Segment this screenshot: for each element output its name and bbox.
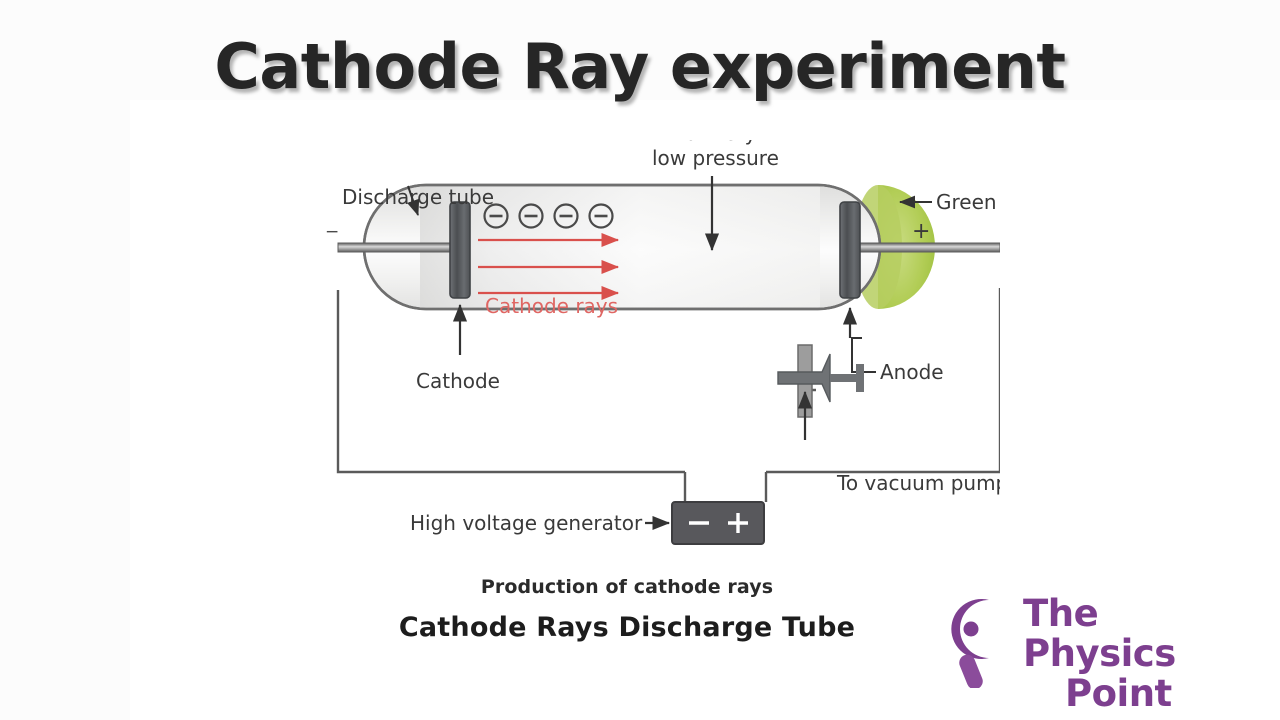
logo-wordmark: The Physics Point (1023, 594, 1245, 714)
logo-mark-icon (945, 596, 1025, 688)
logo-line-1: The Physics (1023, 594, 1245, 674)
anode-plate (840, 202, 860, 298)
air-pressure-label-line2: low pressure (652, 146, 779, 170)
cathode-rays-label: Cathode rays (485, 294, 618, 318)
terminal-negative-label: − (325, 222, 339, 242)
circuit-wiring (338, 288, 1000, 502)
green-glow-label: Green glow (936, 190, 1000, 214)
terminal-positive-label: + (912, 219, 930, 244)
anode-lead-wire (860, 243, 1000, 252)
generator-box (672, 502, 764, 544)
vacuum-pump-label: To vacuum pump (836, 471, 1000, 495)
air-pressure-label-line1: Air at very (652, 140, 757, 145)
brand-logo: The Physics Point (945, 596, 1245, 688)
anode-label: Anode (880, 360, 944, 384)
cathode-plate (450, 202, 470, 298)
cathode-label: Cathode (416, 369, 500, 393)
logo-dot-icon (964, 622, 979, 637)
high-voltage-generator (672, 502, 764, 544)
valve-handle (856, 364, 864, 392)
cathode-lead-wire (338, 243, 460, 252)
logo-line-2: Point (1023, 674, 1245, 714)
screenshot-root: Cathode Ray experiment (0, 0, 1280, 720)
page-title: Cathode Ray experiment (0, 30, 1280, 103)
discharge-tube-label: Discharge tube (342, 185, 494, 209)
high-voltage-generator-label: High voltage generator (410, 511, 643, 535)
valve-stem (830, 374, 858, 382)
diagram-cathode-ray-tube: − + (300, 140, 1000, 570)
